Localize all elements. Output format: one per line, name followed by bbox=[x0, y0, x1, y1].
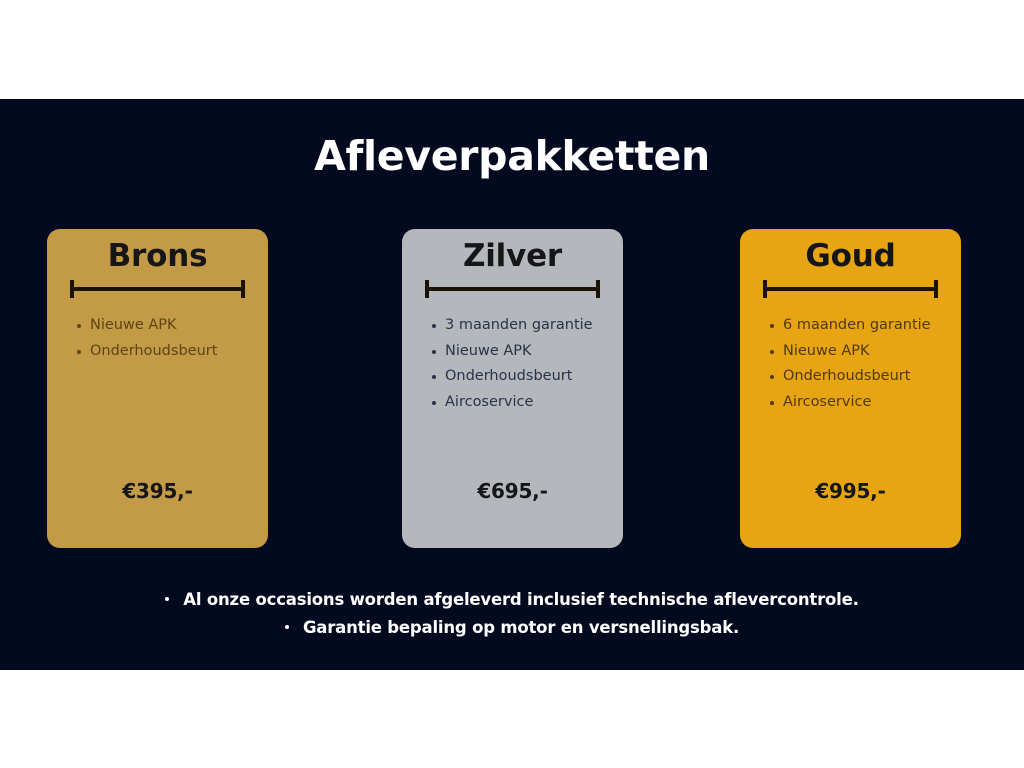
footer-note-text: Al onze occasions worden afgeleverd incl… bbox=[183, 590, 858, 609]
pricing-card-zilver[interactable]: Zilver3 maanden garantieNieuwe APKOnderh… bbox=[402, 229, 623, 548]
card-title: Goud bbox=[740, 238, 961, 274]
dimension-line-icon bbox=[70, 280, 245, 298]
card-feature-item: Aircoservice bbox=[402, 390, 623, 416]
card-price: €395,- bbox=[47, 479, 268, 503]
card-feature-item: Nieuwe APK bbox=[47, 313, 268, 339]
pricing-card-goud[interactable]: Goud6 maanden garantieNieuwe APKOnderhou… bbox=[740, 229, 961, 548]
card-feature-item: Onderhoudsbeurt bbox=[402, 364, 623, 390]
card-feature-item: Onderhoudsbeurt bbox=[740, 364, 961, 390]
bullet-icon bbox=[285, 625, 289, 629]
card-price: €995,- bbox=[740, 479, 961, 503]
footer-note-text: Garantie bepaling op motor en versnellin… bbox=[303, 618, 739, 637]
slide-stage: Afleverpakketten BronsNieuwe APKOnderhou… bbox=[0, 99, 1024, 670]
dimension-line-icon bbox=[425, 280, 600, 298]
footer-notes: Al onze occasions worden afgeleverd incl… bbox=[0, 586, 1024, 642]
card-feature-item: Aircoservice bbox=[740, 390, 961, 416]
page-title: Afleverpakketten bbox=[0, 132, 1024, 180]
card-feature-list: Nieuwe APKOnderhoudsbeurt bbox=[47, 313, 268, 364]
pricing-card-brons[interactable]: BronsNieuwe APKOnderhoudsbeurt€395,- bbox=[47, 229, 268, 548]
card-price: €695,- bbox=[402, 479, 623, 503]
footer-note: Al onze occasions worden afgeleverd incl… bbox=[0, 586, 1024, 614]
dimension-cap-right bbox=[241, 280, 245, 298]
card-feature-item: Nieuwe APK bbox=[402, 339, 623, 365]
card-feature-item: Nieuwe APK bbox=[740, 339, 961, 365]
pricing-card-row: BronsNieuwe APKOnderhoudsbeurt€395,-Zilv… bbox=[0, 229, 1024, 549]
card-feature-item: 3 maanden garantie bbox=[402, 313, 623, 339]
card-feature-item: 6 maanden garantie bbox=[740, 313, 961, 339]
dimension-bar bbox=[70, 287, 245, 291]
dimension-line-icon bbox=[763, 280, 938, 298]
card-feature-list: 3 maanden garantieNieuwe APKOnderhoudsbe… bbox=[402, 313, 623, 415]
bullet-icon bbox=[165, 597, 169, 601]
card-title: Zilver bbox=[402, 238, 623, 274]
card-title: Brons bbox=[47, 238, 268, 274]
dimension-cap-right bbox=[934, 280, 938, 298]
card-feature-item: Onderhoudsbeurt bbox=[47, 339, 268, 365]
dimension-cap-right bbox=[596, 280, 600, 298]
footer-note: Garantie bepaling op motor en versnellin… bbox=[0, 614, 1024, 642]
dimension-bar bbox=[763, 287, 938, 291]
dimension-bar bbox=[425, 287, 600, 291]
card-feature-list: 6 maanden garantieNieuwe APKOnderhoudsbe… bbox=[740, 313, 961, 415]
